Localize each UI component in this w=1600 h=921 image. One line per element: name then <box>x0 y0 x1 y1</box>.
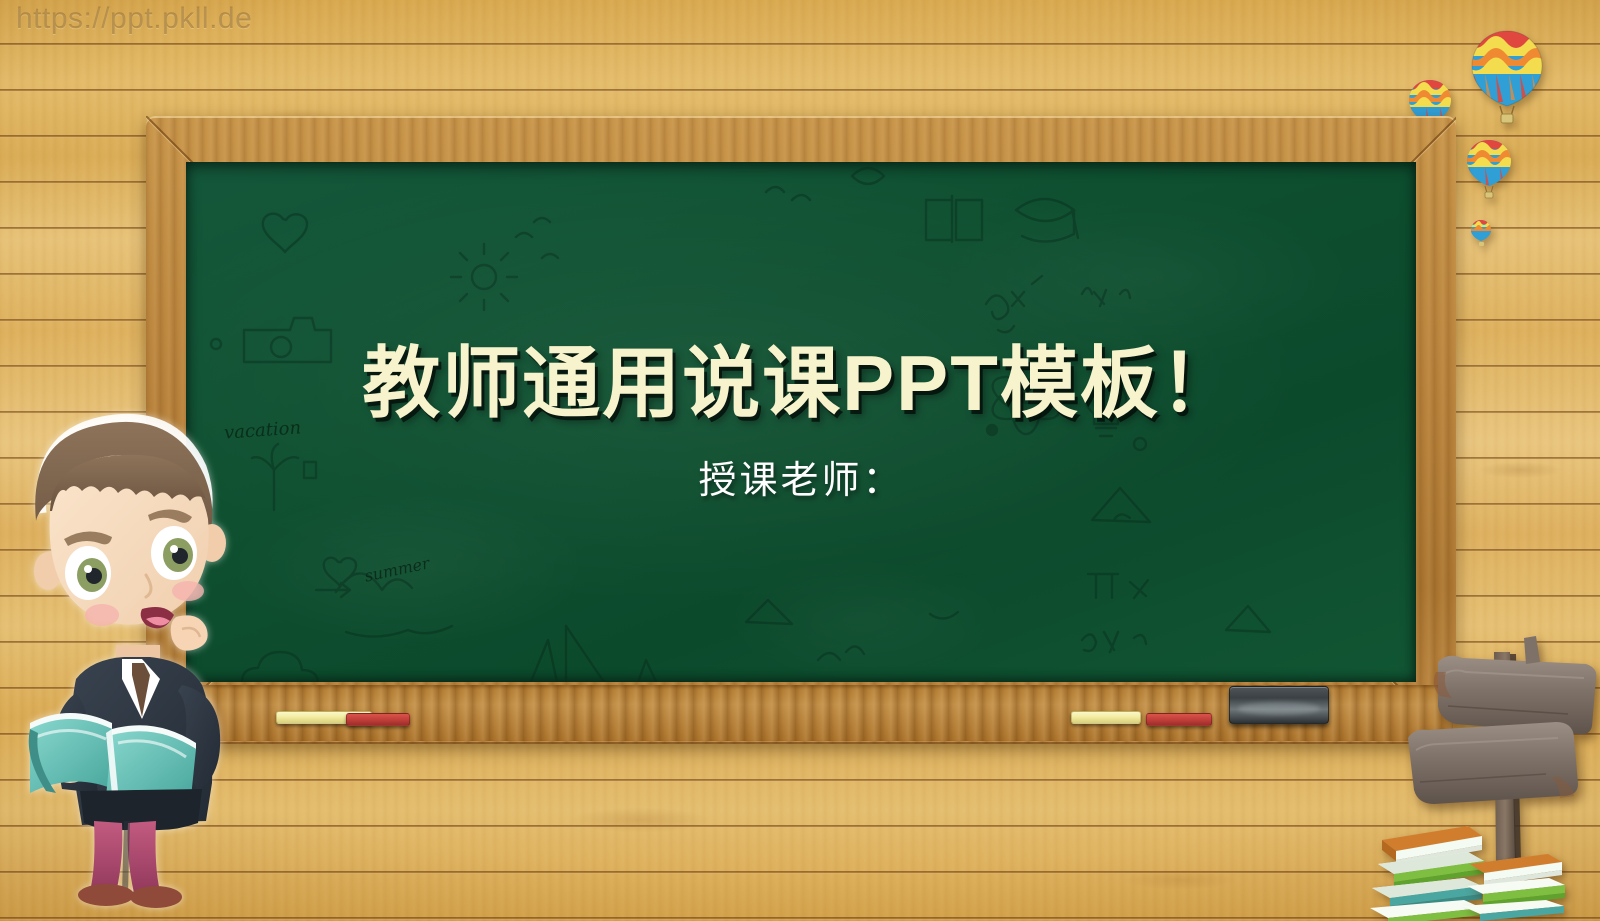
blackboard-eraser[interactable] <box>1229 686 1329 724</box>
doodle-word-vacation: vacation <box>223 417 301 443</box>
site-watermark: https://ppt.pkll.de <box>16 2 252 36</box>
chalk-cream-right[interactable] <box>1071 711 1141 724</box>
chalk-red-left[interactable] <box>346 713 410 726</box>
blackboard-writing-surface: vacation summer <box>186 162 1416 682</box>
slide-canvas: https://ppt.pkll.de <box>0 0 1600 921</box>
chalk-dust-overlay <box>186 162 1416 682</box>
chalk-red-right[interactable] <box>1146 713 1212 726</box>
blackboard: vacation summer 教师通用说课PPT模板！ 授课老师： <box>146 116 1456 744</box>
doodle-word-summer: summer <box>363 553 431 585</box>
chalk-doodle-layer <box>186 162 1416 682</box>
